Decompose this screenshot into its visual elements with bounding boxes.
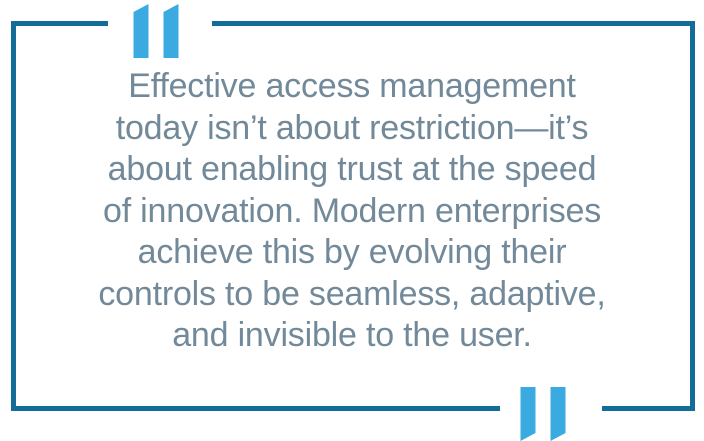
frame-top-right-segment <box>212 21 695 26</box>
opening-quote-icon <box>124 4 188 58</box>
quote-text: Effective access management today isn’t … <box>52 66 652 357</box>
pull-quote-card: Effective access management today isn’t … <box>0 0 704 432</box>
frame-bottom-right-segment <box>602 406 695 411</box>
closing-quote-icon <box>511 387 575 441</box>
frame-top-left-segment <box>11 21 108 26</box>
frame-right-segment <box>690 21 695 411</box>
frame-bottom-left-segment <box>11 406 500 411</box>
frame-left-segment <box>11 21 16 411</box>
